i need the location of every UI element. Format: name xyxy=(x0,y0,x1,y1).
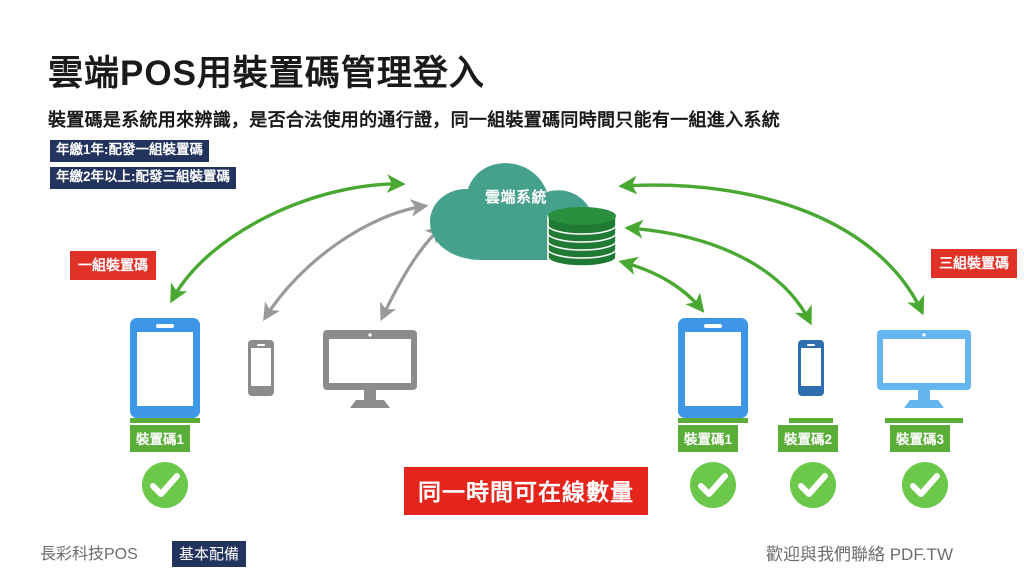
arrow-right-cloud-monitor xyxy=(622,185,922,312)
diagram-canvas: 雲端POS用裝置碼管理登入 裝置碼是系統用來辨識，是否合法使用的通行證，同一組裝… xyxy=(0,0,1024,576)
online-count-banner: 同一時間可在線數量 xyxy=(404,467,648,515)
check-icon-right-3 xyxy=(901,461,949,509)
arrow-left-phone-cloud xyxy=(265,206,425,318)
device-right-tablet xyxy=(678,318,748,418)
device-right-phone xyxy=(798,340,824,396)
device-code-right-3: 裝置碼3 xyxy=(890,425,950,452)
device-left-phone xyxy=(248,340,274,396)
footer-badge: 基本配備 xyxy=(172,541,246,567)
device-right-monitor xyxy=(877,330,971,408)
footer-brand: 長彩科技POS xyxy=(40,540,138,564)
device-left-monitor xyxy=(323,330,417,408)
quota-badge-left: 一組裝置碼 xyxy=(70,251,156,280)
device-code-right-2: 裝置碼2 xyxy=(778,425,838,452)
check-icon-left-1 xyxy=(141,461,189,509)
check-icon-right-2 xyxy=(789,461,837,509)
quota-badge-right: 三組裝置碼 xyxy=(931,249,1017,278)
arrow-right-cloud-tablet xyxy=(622,262,702,310)
right-monitor-active-bar xyxy=(885,418,963,423)
arrow-left-tablet-cloud xyxy=(172,184,402,300)
database-icon xyxy=(546,206,618,270)
right-tablet-active-bar xyxy=(678,418,748,423)
device-code-right-1: 裝置碼1 xyxy=(678,425,738,452)
footer-contact: 歡迎與我們聯絡 PDF.TW xyxy=(766,540,953,565)
right-phone-active-bar xyxy=(789,418,833,423)
check-icon-right-1 xyxy=(689,461,737,509)
left-tablet-active-bar xyxy=(130,418,200,423)
device-left-tablet xyxy=(130,318,200,418)
device-code-left-1: 裝置碼1 xyxy=(130,425,190,452)
